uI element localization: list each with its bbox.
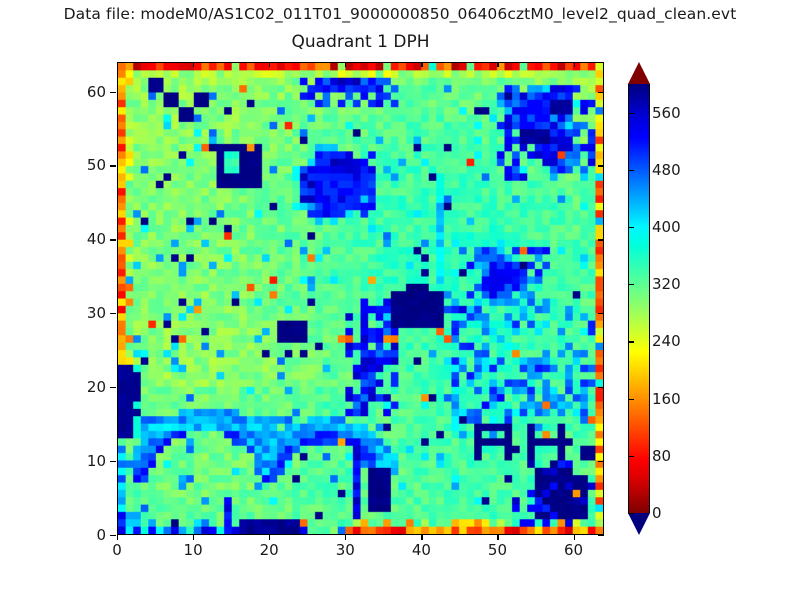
colorbar-gradient xyxy=(628,84,650,513)
colorbar-tick-mark xyxy=(628,284,634,285)
colorbar-tick-mark xyxy=(628,513,634,514)
colorbar-tick-label-240: 240 xyxy=(652,332,681,350)
y-tick-mark xyxy=(110,165,116,166)
y-tick-label-60: 60 xyxy=(62,83,106,101)
x-tick-mark xyxy=(574,535,575,540)
y-tick-label-50: 50 xyxy=(62,156,106,174)
colorbar[interactable] xyxy=(628,62,650,535)
y-tick-label-10: 10 xyxy=(62,452,106,470)
x-tick-label-50: 50 xyxy=(488,541,507,559)
data-file-suptitle: Data file: modeM0/AS1C02_011T01_90000008… xyxy=(0,5,800,23)
y-tick-label-0: 0 xyxy=(62,526,106,544)
colorbar-tick-mark xyxy=(628,456,634,457)
x-tick-label-40: 40 xyxy=(412,541,431,559)
y-tick-mark-right xyxy=(598,387,604,388)
colorbar-tick-mark xyxy=(628,113,634,114)
x-tick-mark-top xyxy=(345,62,346,67)
x-tick-mark xyxy=(117,535,118,540)
detector-heatmap-axes[interactable] xyxy=(117,62,604,535)
colorbar-tick-mark xyxy=(628,341,634,342)
colorbar-tick-label-0: 0 xyxy=(652,504,662,522)
x-tick-mark-top xyxy=(269,62,270,67)
figure-canvas: Data file: modeM0/AS1C02_011T01_90000008… xyxy=(0,0,800,600)
x-tick-label-30: 30 xyxy=(336,541,355,559)
colorbar-extend-max-arrow xyxy=(628,62,650,84)
y-tick-label-30: 30 xyxy=(62,304,106,322)
x-tick-label-20: 20 xyxy=(260,541,279,559)
x-tick-mark-top xyxy=(117,62,118,67)
plot-title: Quadrant 1 DPH xyxy=(117,32,604,52)
y-tick-mark xyxy=(110,387,116,388)
y-tick-mark xyxy=(110,461,116,462)
x-tick-label-0: 0 xyxy=(112,541,122,559)
y-tick-mark-right xyxy=(598,239,604,240)
colorbar-tick-label-560: 560 xyxy=(652,104,681,122)
x-tick-mark xyxy=(421,535,422,540)
x-tick-mark-top xyxy=(574,62,575,67)
x-tick-mark-top xyxy=(497,62,498,67)
colorbar-tick-label-320: 320 xyxy=(652,275,681,293)
x-tick-label-60: 60 xyxy=(564,541,583,559)
y-tick-label-40: 40 xyxy=(62,230,106,248)
x-tick-mark xyxy=(345,535,346,540)
colorbar-tick-mark xyxy=(628,170,634,171)
quadrant-dph-heatmap[interactable] xyxy=(118,63,603,534)
x-tick-label-10: 10 xyxy=(184,541,203,559)
colorbar-tick-mark xyxy=(628,227,634,228)
colorbar-tick-label-480: 480 xyxy=(652,161,681,179)
colorbar-tick-mark xyxy=(628,399,634,400)
x-tick-mark xyxy=(497,535,498,540)
colorbar-tick-label-80: 80 xyxy=(652,447,671,465)
y-tick-mark xyxy=(110,535,116,536)
x-tick-mark xyxy=(269,535,270,540)
colorbar-extend-min-arrow xyxy=(628,513,650,535)
y-tick-mark xyxy=(110,239,116,240)
y-tick-mark-right xyxy=(598,461,604,462)
y-tick-mark-right xyxy=(598,92,604,93)
y-tick-label-20: 20 xyxy=(62,378,106,396)
y-tick-mark xyxy=(110,313,116,314)
y-tick-mark-right xyxy=(598,165,604,166)
y-tick-mark-right xyxy=(598,535,604,536)
x-tick-mark-top xyxy=(193,62,194,67)
x-tick-mark-top xyxy=(421,62,422,67)
x-tick-mark xyxy=(193,535,194,540)
y-tick-mark-right xyxy=(598,313,604,314)
y-tick-mark xyxy=(110,92,116,93)
colorbar-tick-label-160: 160 xyxy=(652,390,681,408)
colorbar-tick-label-400: 400 xyxy=(652,218,681,236)
